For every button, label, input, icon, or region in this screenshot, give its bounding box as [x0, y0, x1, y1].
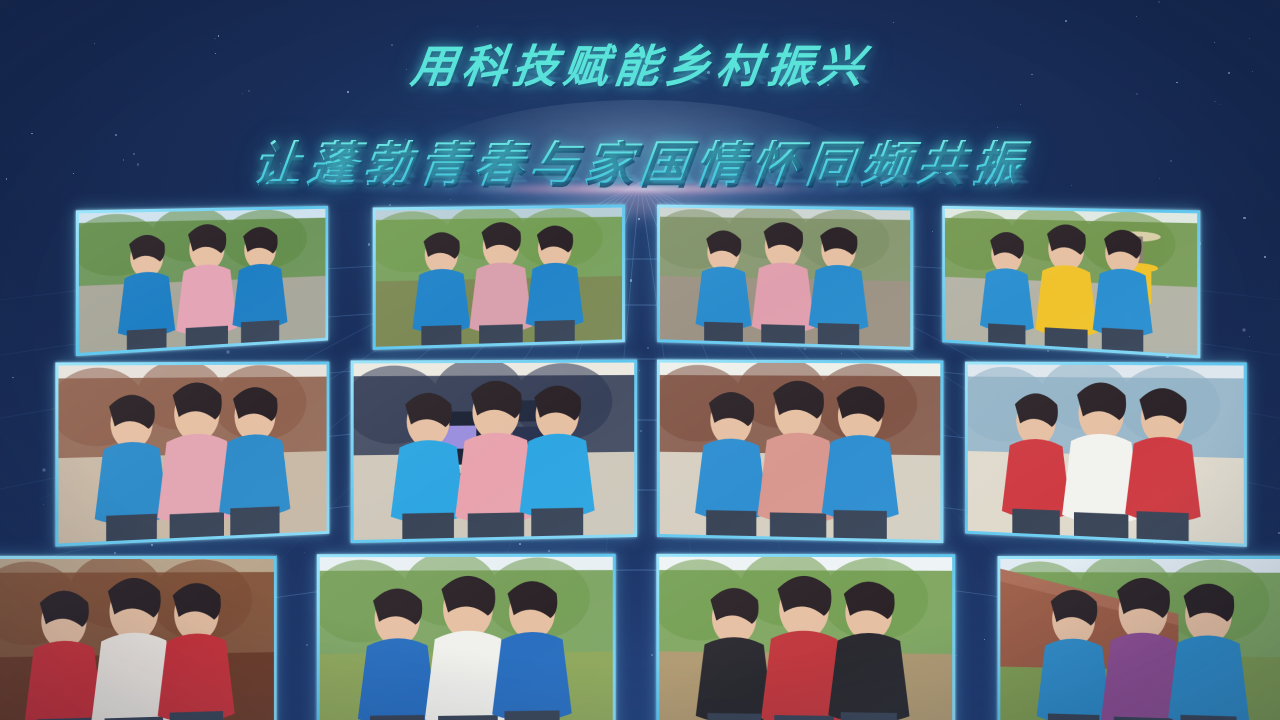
photo-card[interactable] — [965, 362, 1247, 547]
photo-thumbnail — [0, 559, 274, 720]
photo-card[interactable] — [55, 362, 329, 547]
photo-card[interactable] — [942, 206, 1200, 359]
photo-thumbnail — [1000, 559, 1280, 720]
photo-card[interactable] — [373, 205, 625, 350]
photo-thumbnail — [945, 209, 1197, 355]
photo-thumbnail — [660, 363, 941, 540]
photo-card[interactable] — [657, 205, 913, 350]
photo-grid — [0, 0, 1280, 720]
photo-card[interactable] — [998, 556, 1280, 720]
photo-thumbnail — [354, 363, 635, 540]
photo-thumbnail — [58, 365, 326, 544]
photo-card[interactable] — [351, 360, 637, 544]
photo-card[interactable] — [0, 556, 277, 720]
photo-thumbnail — [659, 557, 952, 720]
photo-thumbnail — [376, 208, 622, 347]
photo-card[interactable] — [657, 360, 943, 544]
photo-thumbnail — [660, 208, 910, 347]
photo-card[interactable] — [317, 554, 616, 720]
photo-thumbnail — [968, 365, 1244, 544]
photo-thumbnail — [79, 209, 325, 353]
photo-card[interactable] — [76, 206, 328, 356]
photo-card[interactable] — [656, 554, 955, 720]
photo-thumbnail — [320, 557, 613, 720]
poster-stage: 用科技赋能乡村振兴 用科技赋能乡村振兴 让蓬勃青春与家国情怀同频共振 让蓬勃青春… — [0, 0, 1280, 720]
